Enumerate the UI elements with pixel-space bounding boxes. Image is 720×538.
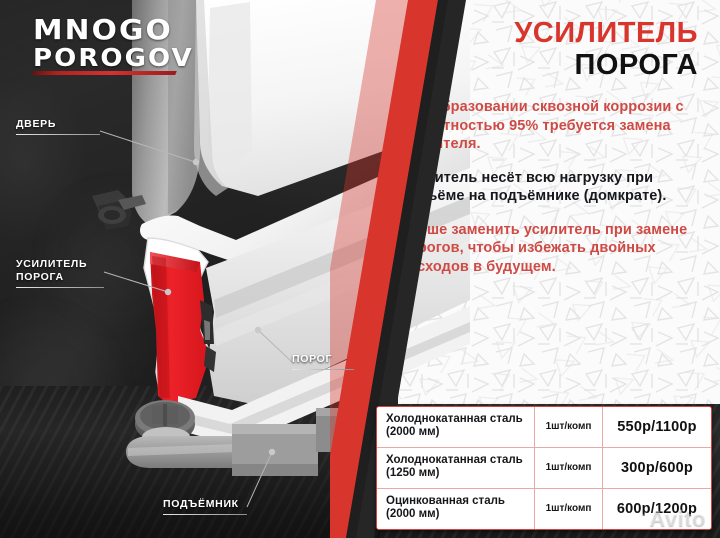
- callout-door-rule: [16, 134, 100, 135]
- logo-line-1: MNOGO: [33, 17, 197, 43]
- table-cell-price: 300р/600р: [603, 448, 711, 488]
- table-row: Оцинкованная сталь (2000 мм) 1шт/комп 60…: [377, 489, 711, 529]
- callout-reinforcement-label-1: УСИЛИТЕЛЬ: [16, 258, 104, 271]
- product-dimension: (2000 мм): [386, 508, 527, 522]
- callout-reinforcement: УСИЛИТЕЛЬ ПОРОГА: [16, 258, 104, 288]
- callout-reinforcement-rule: [16, 287, 104, 288]
- callout-door: ДВЕРЬ: [16, 118, 100, 135]
- callout-sill-label: ПОРОГ: [292, 353, 354, 366]
- table-cell-quantity: 1шт/комп: [535, 489, 603, 529]
- table-cell-quantity: 1шт/комп: [535, 448, 603, 488]
- callout-jack-rule: [163, 514, 247, 515]
- product-name: Оцинкованная сталь: [386, 495, 505, 507]
- table-cell-price: 550р/1100р: [603, 407, 711, 447]
- product-dimension: (1250 мм): [386, 467, 527, 481]
- callout-jack-label: ПОДЪЁМНИК: [163, 498, 247, 511]
- table-cell-quantity: 1шт/комп: [535, 407, 603, 447]
- headline: УСИЛИТЕЛЬ ПОРОГА: [514, 18, 698, 81]
- leader-dot-jack: [269, 449, 275, 455]
- table-row: Холоднокатанная сталь (1250 мм) 1шт/комп…: [377, 448, 711, 489]
- callout-sill-rule: [292, 369, 354, 370]
- logo-line-2: POROGOV: [33, 46, 194, 69]
- table-cell-product: Холоднокатанная сталь (1250 мм): [377, 448, 535, 488]
- logo-underline: [32, 71, 177, 75]
- price-table: Холоднокатанная сталь (2000 мм) 1шт/комп…: [376, 406, 712, 530]
- table-cell-price: 600р/1200р: [603, 489, 711, 529]
- promo-image: MNOGO POROGOV: [0, 0, 720, 538]
- leader-dot-sill: [255, 327, 261, 333]
- leader-dot-door: [193, 159, 199, 165]
- callout-sill: ПОРОГ: [292, 353, 354, 370]
- callout-reinforcement-label-2: ПОРОГА: [16, 271, 104, 284]
- table-row: Холоднокатанная сталь (2000 мм) 1шт/комп…: [377, 407, 711, 448]
- table-cell-product: Оцинкованная сталь (2000 мм): [377, 489, 535, 529]
- callout-jack: ПОДЪЁМНИК: [163, 498, 247, 515]
- callout-door-label: ДВЕРЬ: [16, 118, 100, 131]
- headline-primary: УСИЛИТЕЛЬ: [514, 18, 698, 48]
- product-name: Холоднокатанная сталь: [386, 454, 523, 466]
- table-cell-product: Холоднокатанная сталь (2000 мм): [377, 407, 535, 447]
- leader-dot-reinforcement: [165, 289, 171, 295]
- headline-secondary: ПОРОГА: [514, 50, 698, 80]
- product-dimension: (2000 мм): [386, 426, 527, 440]
- product-name: Холоднокатанная сталь: [386, 413, 523, 425]
- brand-logo: MNOGO POROGOV: [33, 17, 188, 75]
